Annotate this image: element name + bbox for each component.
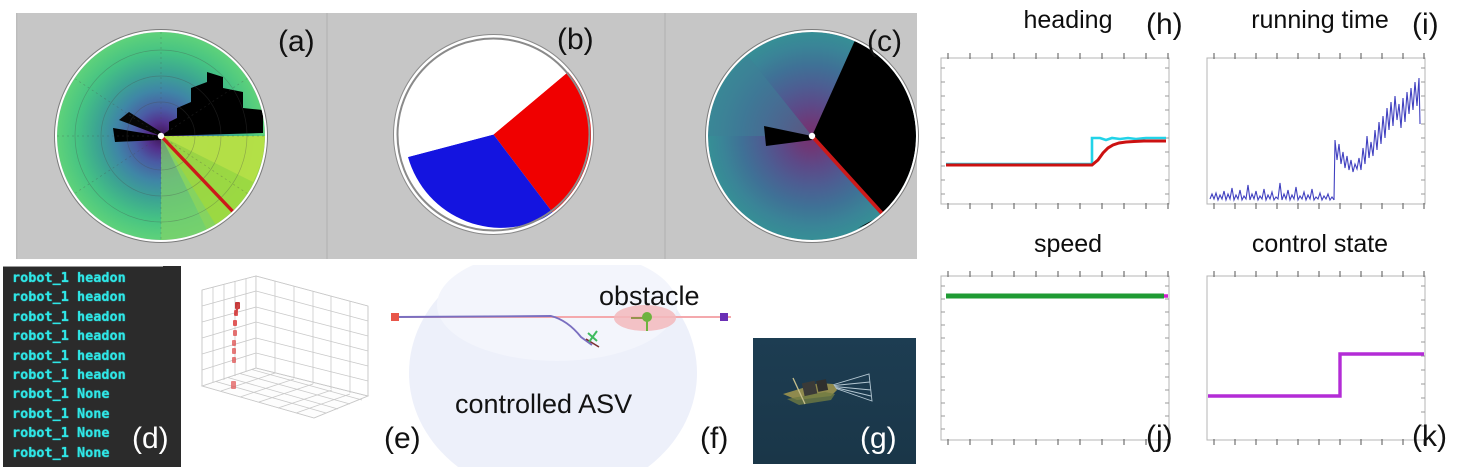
asv-simulation-scene[interactable]: obstacle controlled ASV [381, 265, 741, 467]
encounter-type-wheel-b[interactable] [396, 37, 591, 232]
strip-divider-1 [326, 13, 328, 259]
chart-control-state-svg [1206, 270, 1428, 446]
panel-label-b: (b) [557, 25, 594, 55]
goal-marker [720, 313, 728, 321]
chart-control-state-title: control state [1206, 232, 1434, 257]
panel-label-f: (f) [700, 424, 728, 454]
chart-running-time-svg [1206, 52, 1428, 210]
terminal-top-shadow [3, 266, 163, 267]
panel-label-d: (d) [132, 424, 169, 454]
figure-root: (a) (b) [0, 0, 1460, 467]
radar-a-inner [57, 32, 265, 240]
chart-speed-plot [940, 270, 1172, 446]
obstacle-label: obstacle [599, 281, 700, 312]
chart-speed-title: speed [932, 232, 1204, 257]
radar-a-svg [57, 32, 265, 240]
panel-label-i: (i) [1412, 10, 1439, 40]
start-marker [391, 313, 399, 321]
strip-left-edge [16, 13, 19, 259]
terminal-line: robot_1 None [3, 385, 181, 404]
strip-divider-2 [664, 13, 666, 259]
radar-panel-a[interactable] [57, 32, 265, 240]
terminal-line: robot_1 headon [3, 308, 181, 327]
panel-label-e: (e) [384, 424, 421, 454]
radar-c-goal-marker [883, 214, 893, 226]
terminal-line: robot_1 headon [3, 327, 181, 346]
terminal-line: robot_1 headon [3, 269, 181, 288]
panel-label-a: (a) [278, 27, 315, 57]
chart-control-state-plot [1206, 270, 1428, 446]
panel-label-j: (j) [1146, 422, 1173, 452]
trajectory-3d-plot[interactable] [190, 268, 380, 464]
radar-panel-c[interactable] [708, 32, 916, 240]
terminal-line: robot_1 headon [3, 347, 181, 366]
wheel-b-svg [396, 37, 591, 232]
chart-speed-svg [940, 270, 1172, 446]
simulation-views-strip: (a) (b) [16, 13, 917, 259]
chart-running-time-plot [1206, 52, 1428, 210]
panel-label-k: (k) [1412, 422, 1447, 452]
chart-running-time-title: running time [1206, 8, 1434, 33]
chart-heading-plot [940, 52, 1172, 210]
panel-label-h: (h) [1146, 10, 1183, 40]
terminal-line: robot_1 headon [3, 288, 181, 307]
chart-heading-svg [940, 52, 1172, 210]
controlled-asv-label: controlled ASV [455, 389, 632, 420]
radar-c-inner [708, 32, 916, 240]
terminal-line: robot_1 headon [3, 366, 181, 385]
radar-c-ego-marker [809, 133, 815, 139]
panel-label-c: (c) [867, 27, 902, 57]
plot3d-svg [190, 268, 380, 464]
radar-a-ego-marker [158, 133, 164, 139]
radar-c-svg [708, 32, 916, 240]
panel-label-g: (g) [860, 424, 897, 454]
radar-a-goal-marker [234, 212, 244, 224]
